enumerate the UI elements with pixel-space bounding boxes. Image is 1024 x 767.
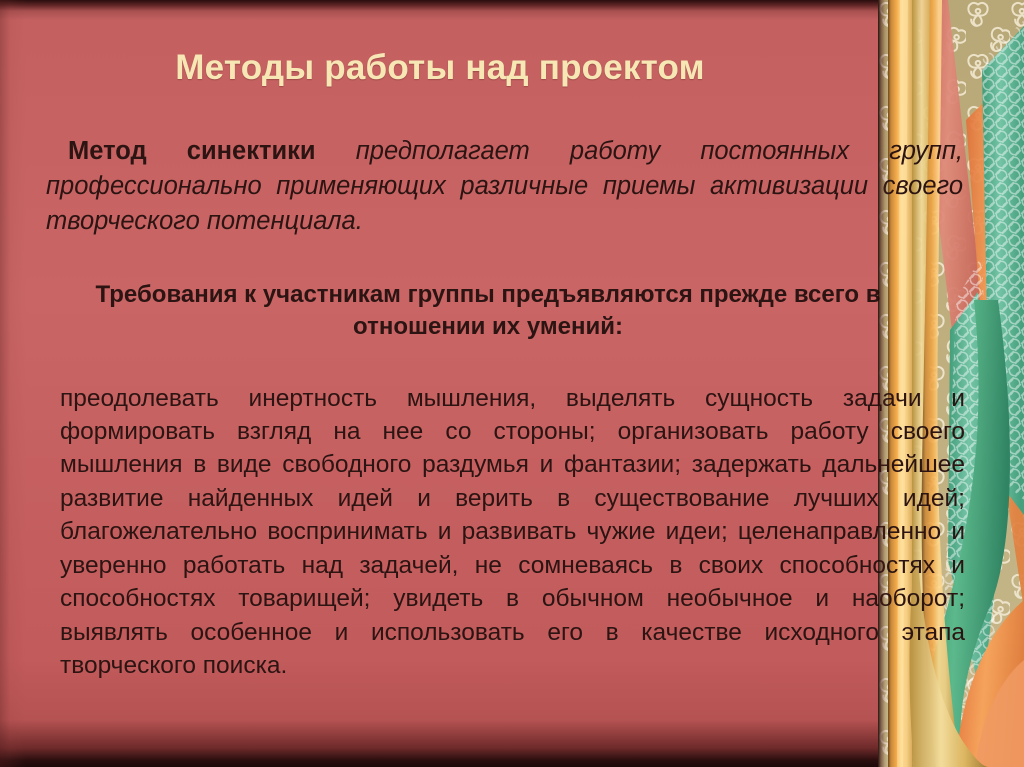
paragraph-synectics: Метод синектики предполагает работу пост…	[46, 134, 963, 240]
requirements-heading: Требования к участникам группы предъявля…	[60, 279, 916, 342]
page-title: Методы работы над проектом	[0, 50, 880, 87]
presentation-slide: Методы работы над проектом Метод синекти…	[0, 0, 1024, 767]
slide-content: Методы работы над проектом Метод синекти…	[0, 0, 1024, 767]
synectics-lead-phrase: Метод синектики	[68, 137, 316, 165]
panel-edge-shadow	[878, 0, 888, 767]
skills-body-run: преодолевать инертность мышления, выделя…	[60, 385, 965, 680]
skills-body-text: преодолевать инертность мышления, выделя…	[60, 382, 965, 683]
